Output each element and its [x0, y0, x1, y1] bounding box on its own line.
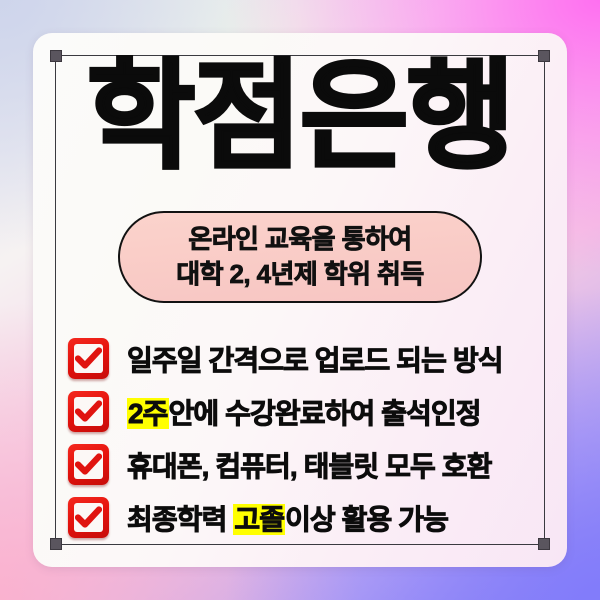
- list-item-text: 휴대폰, 컴퓨터, 태블릿 모두 호환: [127, 445, 491, 485]
- list-item-text-pre: 최종학력: [127, 504, 233, 535]
- list-item: 최종학력 고졸이상 활용 가능: [0, 491, 600, 544]
- list-item: 2주안에 수강완료하여 출석인정: [0, 385, 600, 438]
- list-item-text-pre: 휴대폰, 컴퓨터, 태블릿 모두 호환: [127, 451, 491, 482]
- list-item-text-highlight: 고졸: [233, 504, 285, 535]
- list-item-text: 일주일 간격으로 업로드 되는 방식: [127, 339, 503, 379]
- page-title: 학점은행: [0, 58, 600, 176]
- list-item-text-post: 안에 수강완료하여 출석인정: [169, 398, 481, 429]
- poster-canvas: 학점은행 온라인 교육을 통하여 대학 2, 4년제 학위 취득 일주일 간격으…: [0, 0, 600, 600]
- list-item: 일주일 간격으로 업로드 되는 방식: [0, 332, 600, 385]
- list-item-text-highlight: 2주: [127, 398, 169, 429]
- red-checkbox-icon: [68, 497, 109, 538]
- subtitle-line-2: 대학 2, 4년제 학위 취득: [176, 257, 423, 292]
- list-item-text-post: 이상 활용 가능: [285, 504, 448, 535]
- list-item-text: 2주안에 수강완료하여 출석인정: [127, 392, 481, 432]
- subtitle-line-1: 온라인 교육을 통하여: [188, 222, 411, 257]
- red-checkbox-icon: [68, 391, 109, 432]
- list-item-text-pre: 일주일 간격으로 업로드 되는 방식: [127, 345, 503, 376]
- subtitle-pill: 온라인 교육을 통하여 대학 2, 4년제 학위 취득: [118, 211, 482, 303]
- list-item: 휴대폰, 컴퓨터, 태블릿 모두 호환: [0, 438, 600, 491]
- feature-checklist: 일주일 간격으로 업로드 되는 방식 2주안에 수강완료하여 출석인정 휴대폰,…: [0, 332, 600, 544]
- list-item-text: 최종학력 고졸이상 활용 가능: [127, 498, 448, 538]
- red-checkbox-icon: [68, 444, 109, 485]
- red-checkbox-icon: [68, 338, 109, 379]
